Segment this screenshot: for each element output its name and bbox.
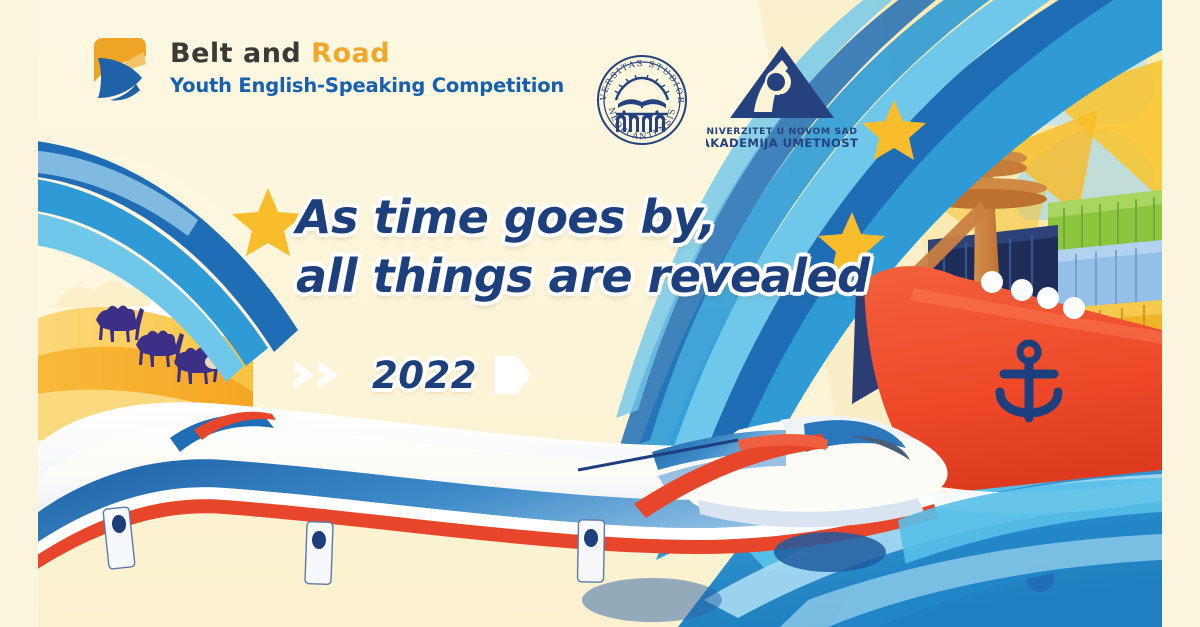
brand-title-word-1: Belt [170, 38, 233, 69]
brand-subtitle: Youth English-Speaking Competition [170, 74, 564, 97]
academy-logo-line2: AKADEMIJA UMETNOSTI [706, 136, 858, 150]
belt-and-road-logo-icon [86, 36, 156, 106]
academy-of-arts-logo: UNIVERZITET U NOVOM SADU AKADEMIJA UMETN… [706, 38, 858, 154]
brand-title: Belt and Road [170, 40, 564, 68]
seal-outer-text-top: UNIVERSITAS STUDIORUM [598, 58, 686, 105]
arrow-tag-icon [493, 352, 533, 398]
headline-line-2: all things are revealed [296, 247, 870, 306]
belt-and-road-brand: Belt and Road Youth English-Speaking Com… [86, 36, 564, 106]
year-badge: 2022 [292, 352, 533, 398]
headline-line-1: As time goes by, [296, 190, 716, 244]
headline-slogan: As time goes by, all things are revealed [296, 188, 870, 306]
brand-text-block: Belt and Road Youth English-Speaking Com… [170, 36, 564, 97]
double-chevron-right-icon [292, 355, 356, 395]
university-of-novi-sad-seal: UNIVERSITAS STUDIORUM NEOPLANTENSIS [578, 48, 706, 152]
brand-title-word-3: Road [311, 38, 390, 69]
poster-header: Belt and Road Youth English-Speaking Com… [0, 0, 1200, 160]
year-label: 2022 [362, 354, 487, 397]
svg-text:UNIVERSITAS STUDIORUM: UNIVERSITAS STUDIORUM [598, 58, 686, 105]
poster-canvas: Belt and Road Youth English-Speaking Com… [0, 0, 1200, 627]
brand-title-word-2: and [243, 38, 301, 69]
